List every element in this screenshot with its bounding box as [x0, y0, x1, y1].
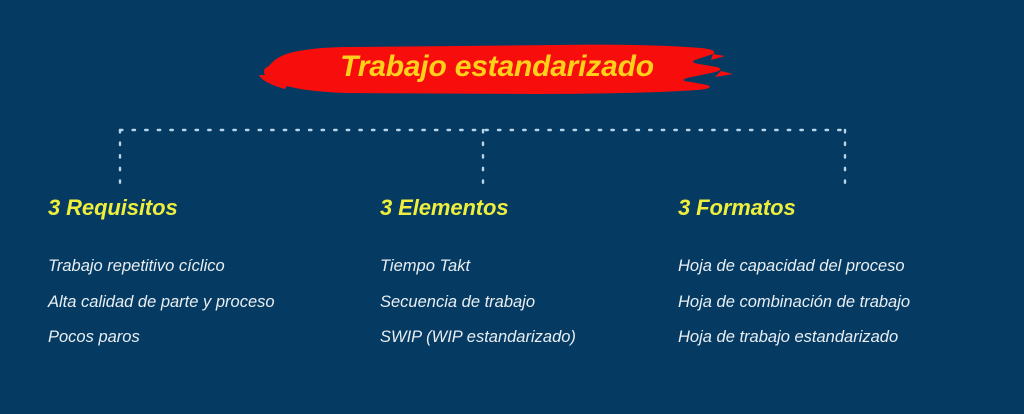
list-item: Tiempo Takt — [380, 258, 680, 275]
list-item: Pocos paros — [48, 329, 378, 346]
column-heading-requisitos: 3 Requisitos — [48, 196, 378, 220]
column-heading-formatos: 3 Formatos — [678, 196, 1008, 220]
list-item: SWIP (WIP estandarizado) — [380, 329, 680, 346]
list-item: Secuencia de trabajo — [380, 294, 680, 311]
column-list-elementos: Tiempo Takt Secuencia de trabajo SWIP (W… — [380, 258, 680, 346]
dotted-connector-bracket — [0, 110, 1024, 205]
column-heading-elementos: 3 Elementos — [380, 196, 680, 220]
page-title: Trabajo estandarizado — [255, 36, 735, 98]
list-item: Alta calidad de parte y proceso — [48, 294, 378, 311]
column-formatos: 3 Formatos Hoja de capacidad del proceso… — [678, 196, 1008, 346]
list-item: Trabajo repetitivo cíclico — [48, 258, 378, 275]
slide-canvas: Trabajo estandarizado 3 Requisitos Traba… — [0, 0, 1024, 414]
column-list-formatos: Hoja de capacidad del proceso Hoja de co… — [678, 258, 1008, 346]
column-list-requisitos: Trabajo repetitivo cíclico Alta calidad … — [48, 258, 378, 346]
list-item: Hoja de combinación de trabajo — [678, 294, 1008, 311]
columns-container: 3 Requisitos Trabajo repetitivo cíclico … — [0, 196, 1024, 366]
list-item: Hoja de trabajo estandarizado — [678, 329, 1008, 346]
column-elementos: 3 Elementos Tiempo Takt Secuencia de tra… — [380, 196, 680, 346]
title-banner: Trabajo estandarizado — [255, 36, 735, 98]
list-item: Hoja de capacidad del proceso — [678, 258, 1008, 275]
column-requisitos: 3 Requisitos Trabajo repetitivo cíclico … — [48, 196, 378, 346]
